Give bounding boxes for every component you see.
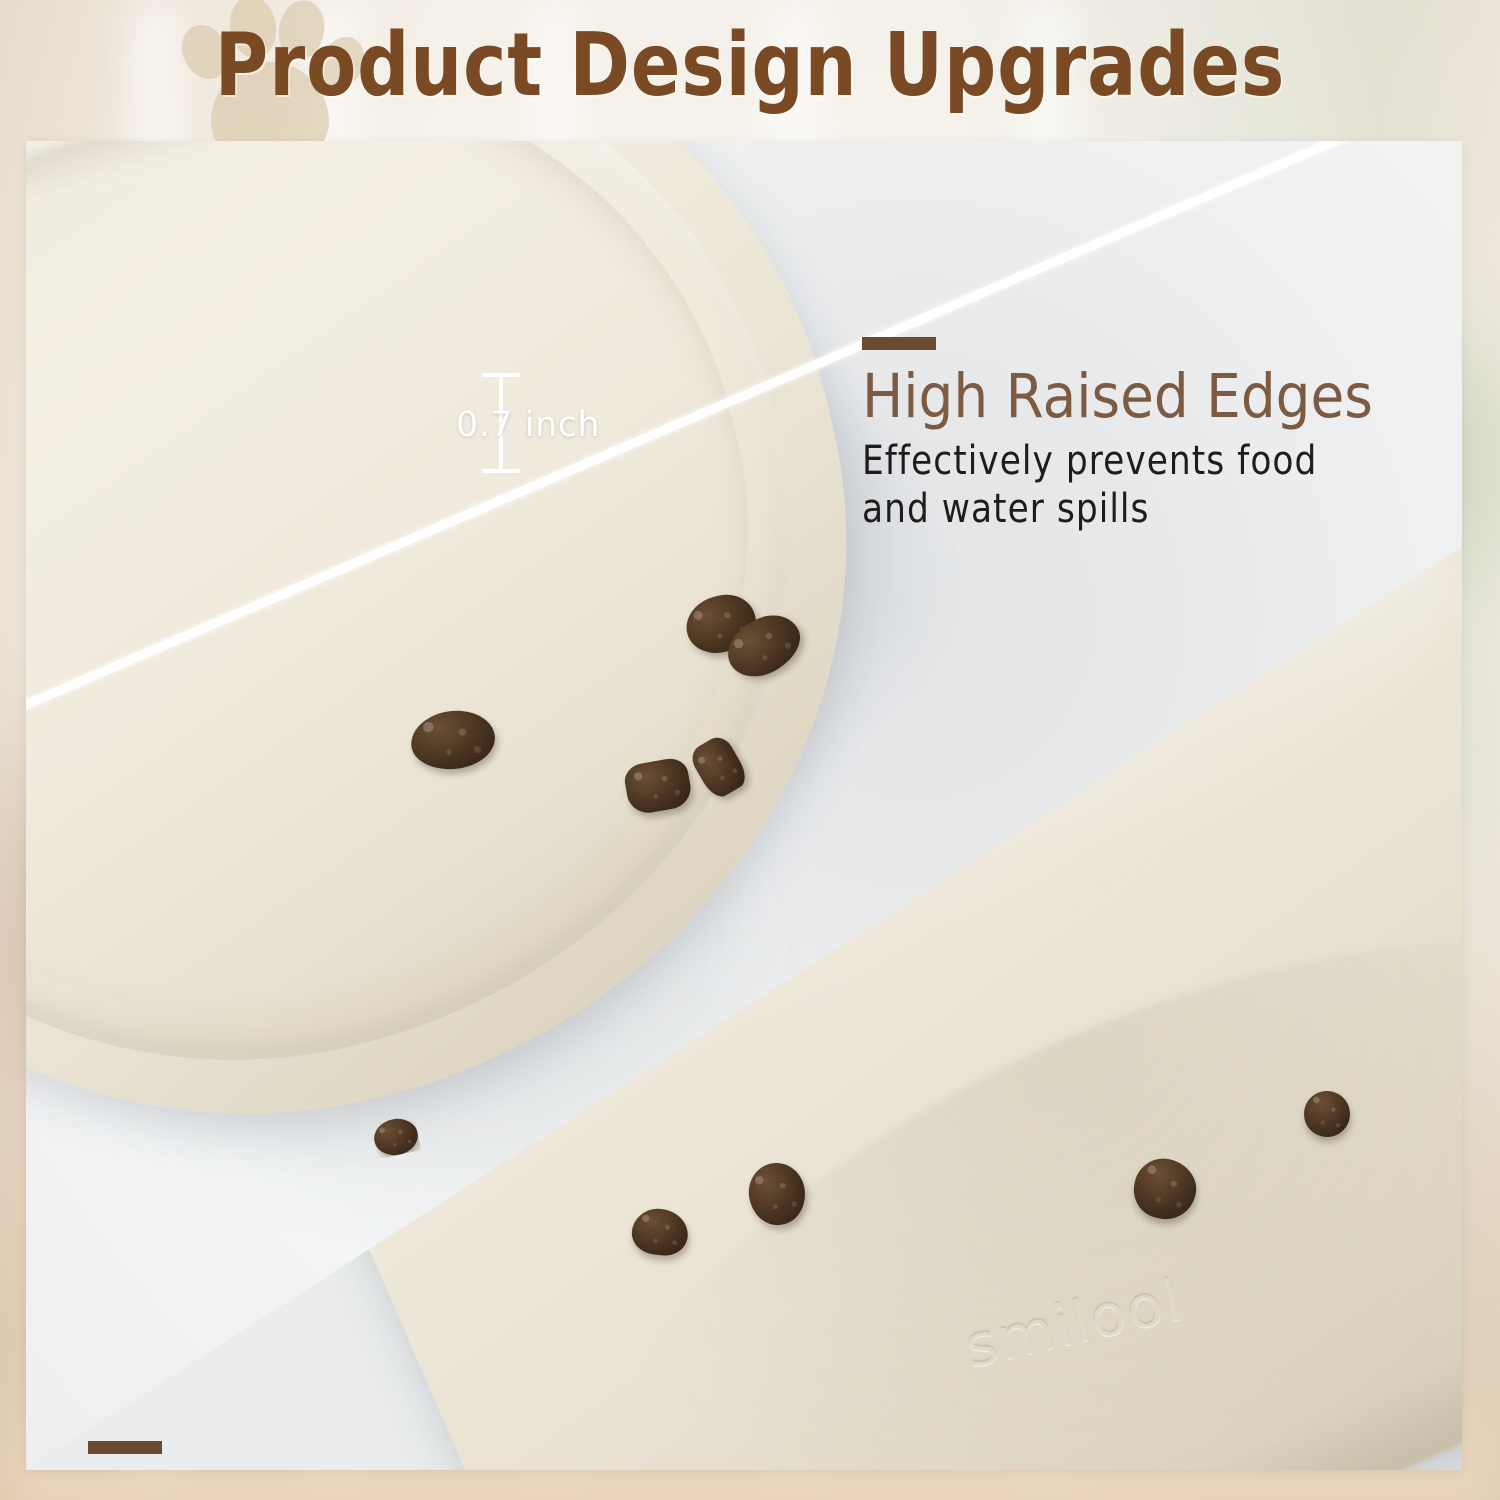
feature-title: High Raised Edges	[862, 365, 1438, 428]
feature-subtitle-line: Effectively prevents food	[862, 438, 1462, 485]
feature-subtitle-line: and water spills	[862, 486, 1462, 533]
feature-keeping-the-floor-clean: Keeping the floor clean Minimizes time s…	[88, 1441, 1288, 1470]
feature-title: Keeping the floor clean	[88, 1468, 1168, 1470]
feature-subtitle: Effectively prevents food and water spil…	[862, 438, 1462, 532]
page-title: Product Design Upgrades	[120, 22, 1380, 109]
product-photo-panel: 0.7 inch smilool High Raised Edges Effec…	[26, 141, 1462, 1470]
accent-bar	[88, 1441, 162, 1454]
product-feature-infographic: Product Design Upgrades	[0, 0, 1500, 1500]
feature-high-raised-edges: High Raised Edges Effectively prevents f…	[862, 337, 1462, 533]
header: Product Design Upgrades	[0, 0, 1500, 140]
accent-bar	[862, 337, 936, 350]
dimension-label: 0.7 inch	[456, 405, 600, 445]
